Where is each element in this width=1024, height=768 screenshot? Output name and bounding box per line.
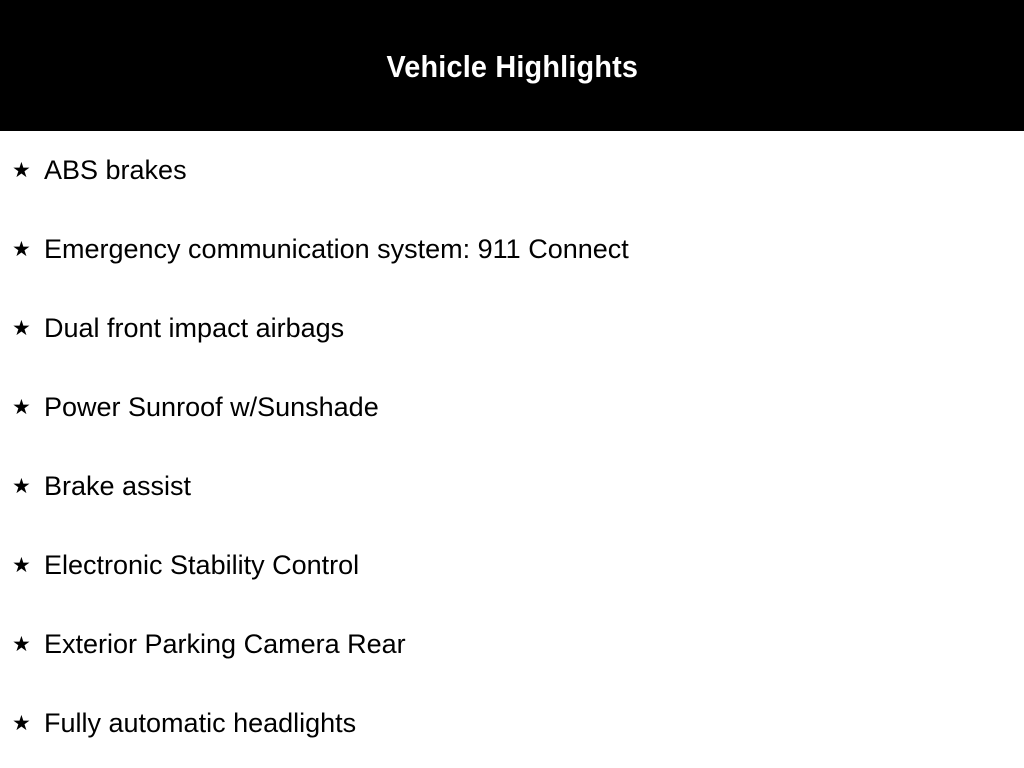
- list-item: ★ Dual front impact airbags: [0, 289, 1024, 368]
- list-item: ★ Power Sunroof w/Sunshade: [0, 368, 1024, 447]
- list-item: ★ ABS brakes: [0, 131, 1024, 210]
- list-item-label: Fully automatic headlights: [44, 710, 356, 737]
- vehicle-highlights-page: Vehicle Highlights ★ ABS brakes ★ Emerge…: [0, 0, 1024, 768]
- list-item: ★ Brake assist: [0, 447, 1024, 526]
- list-item-label: ABS brakes: [44, 157, 187, 184]
- header-band: Vehicle Highlights: [0, 0, 1024, 131]
- star-bullet-icon: ★: [12, 318, 44, 339]
- vehicle-highlights-list: ★ ABS brakes ★ Emergency communication s…: [0, 131, 1024, 763]
- list-item-label: Dual front impact airbags: [44, 315, 344, 342]
- list-item: ★ Fully automatic headlights: [0, 684, 1024, 763]
- page-title: Vehicle Highlights: [386, 51, 638, 82]
- star-bullet-icon: ★: [12, 634, 44, 655]
- star-bullet-icon: ★: [12, 476, 44, 497]
- star-bullet-icon: ★: [12, 160, 44, 181]
- list-item: ★ Emergency communication system: 911 Co…: [0, 210, 1024, 289]
- star-bullet-icon: ★: [12, 239, 44, 260]
- list-item-label: Exterior Parking Camera Rear: [44, 631, 406, 658]
- list-item-label: Emergency communication system: 911 Conn…: [44, 236, 629, 263]
- list-item-label: Electronic Stability Control: [44, 552, 359, 579]
- list-item: ★ Exterior Parking Camera Rear: [0, 605, 1024, 684]
- list-item: ★ Electronic Stability Control: [0, 526, 1024, 605]
- list-item-label: Brake assist: [44, 473, 191, 500]
- star-bullet-icon: ★: [12, 555, 44, 576]
- star-bullet-icon: ★: [12, 397, 44, 418]
- list-item-label: Power Sunroof w/Sunshade: [44, 394, 379, 421]
- star-bullet-icon: ★: [12, 713, 44, 734]
